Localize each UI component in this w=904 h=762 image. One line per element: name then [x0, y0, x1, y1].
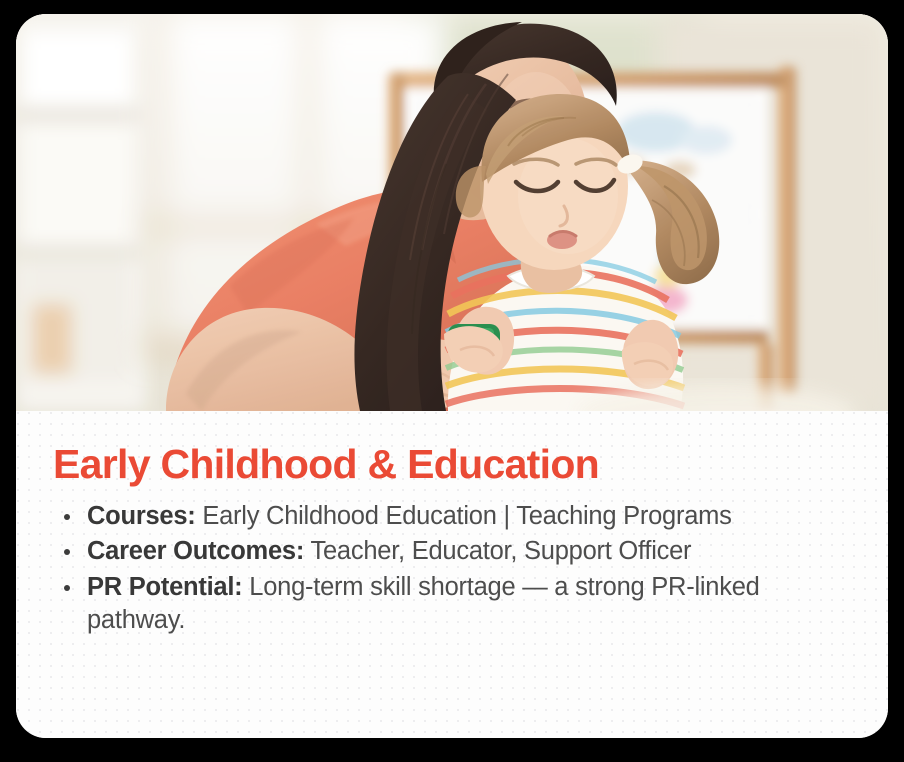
- classroom-photo-illustration: [16, 14, 888, 411]
- career-outcomes-value: Teacher, Educator, Support Officer: [304, 537, 691, 565]
- courses-value: Early Childhood Education | Teaching Pro…: [196, 502, 732, 530]
- courses-label: Courses:: [87, 502, 196, 530]
- list-item-pr-potential: PR Potential: Long-term skill shortage —…: [53, 571, 856, 637]
- career-outcomes-label: Career Outcomes:: [87, 537, 304, 565]
- pr-potential-label: PR Potential:: [87, 573, 242, 601]
- info-card: Early Childhood & Education Courses: Ear…: [16, 14, 888, 738]
- list-item-courses: Courses: Early Childhood Education | Tea…: [53, 500, 856, 533]
- page-root: Early Childhood & Education Courses: Ear…: [0, 0, 904, 762]
- list-item-career-outcomes: Career Outcomes: Teacher, Educator, Supp…: [53, 535, 856, 568]
- details-list: Courses: Early Childhood Education | Tea…: [53, 500, 856, 637]
- card-photo: [16, 14, 888, 411]
- card-content: Early Childhood & Education Courses: Ear…: [16, 411, 888, 738]
- page-title: Early Childhood & Education: [53, 442, 856, 486]
